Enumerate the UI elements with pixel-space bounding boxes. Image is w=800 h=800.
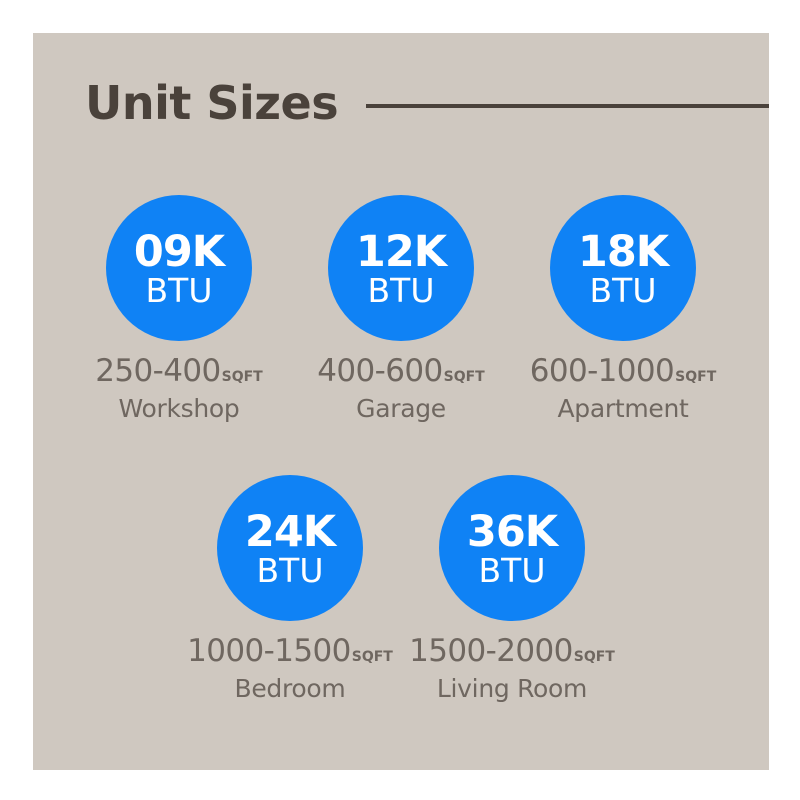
- unit-card[interactable]: 18K BTU 600-1000 SQFT Apartment: [512, 195, 734, 421]
- area-range: 1000-1500: [187, 636, 351, 667]
- btu-unit-label: BTU: [368, 274, 435, 308]
- area-line: 1000-1500 SQFT: [187, 636, 393, 667]
- title-divider-line: [366, 104, 769, 108]
- area-unit-label: SQFT: [222, 370, 263, 384]
- room-name: Living Room: [437, 676, 587, 701]
- area-range: 250-400: [95, 356, 220, 387]
- btu-value: 36K: [467, 511, 557, 553]
- btu-badge-circle[interactable]: 24K BTU: [217, 475, 363, 621]
- area-line: 600-1000 SQFT: [530, 356, 717, 387]
- area-line: 400-600 SQFT: [317, 356, 484, 387]
- area-unit-label: SQFT: [574, 650, 615, 664]
- btu-unit-label: BTU: [479, 554, 546, 588]
- btu-value: 24K: [245, 511, 335, 553]
- area-unit-label: SQFT: [675, 370, 716, 384]
- unit-card[interactable]: 36K BTU 1500-2000 SQFT Living Room: [401, 475, 623, 701]
- area-range: 400-600: [317, 356, 442, 387]
- area-line: 1500-2000 SQFT: [409, 636, 615, 667]
- unit-row-top: 09K BTU 250-400 SQFT Workshop 12K BTU 40…: [33, 195, 769, 421]
- room-name: Workshop: [119, 396, 240, 421]
- btu-unit-label: BTU: [590, 274, 657, 308]
- btu-value: 09K: [134, 231, 224, 273]
- btu-unit-label: BTU: [146, 274, 213, 308]
- btu-unit-label: BTU: [257, 554, 324, 588]
- unit-sizes-infographic: Unit Sizes 09K BTU 250-400 SQFT Workshop…: [0, 0, 800, 800]
- infographic-panel: Unit Sizes 09K BTU 250-400 SQFT Workshop…: [33, 33, 769, 770]
- btu-value: 18K: [578, 231, 668, 273]
- header: Unit Sizes: [33, 63, 769, 143]
- room-name: Garage: [356, 396, 446, 421]
- unit-card[interactable]: 09K BTU 250-400 SQFT Workshop: [68, 195, 290, 421]
- area-range: 1500-2000: [409, 636, 573, 667]
- btu-badge-circle[interactable]: 18K BTU: [550, 195, 696, 341]
- area-range: 600-1000: [530, 356, 674, 387]
- btu-badge-circle[interactable]: 36K BTU: [439, 475, 585, 621]
- btu-badge-circle[interactable]: 12K BTU: [328, 195, 474, 341]
- btu-value: 12K: [356, 231, 446, 273]
- room-name: Apartment: [557, 396, 688, 421]
- room-name: Bedroom: [235, 676, 346, 701]
- area-line: 250-400 SQFT: [95, 356, 262, 387]
- unit-card[interactable]: 24K BTU 1000-1500 SQFT Bedroom: [179, 475, 401, 701]
- area-unit-label: SQFT: [444, 370, 485, 384]
- btu-badge-circle[interactable]: 09K BTU: [106, 195, 252, 341]
- area-unit-label: SQFT: [352, 650, 393, 664]
- unit-row-bottom: 24K BTU 1000-1500 SQFT Bedroom 36K BTU 1…: [33, 475, 769, 701]
- unit-card[interactable]: 12K BTU 400-600 SQFT Garage: [290, 195, 512, 421]
- page-title: Unit Sizes: [85, 80, 338, 126]
